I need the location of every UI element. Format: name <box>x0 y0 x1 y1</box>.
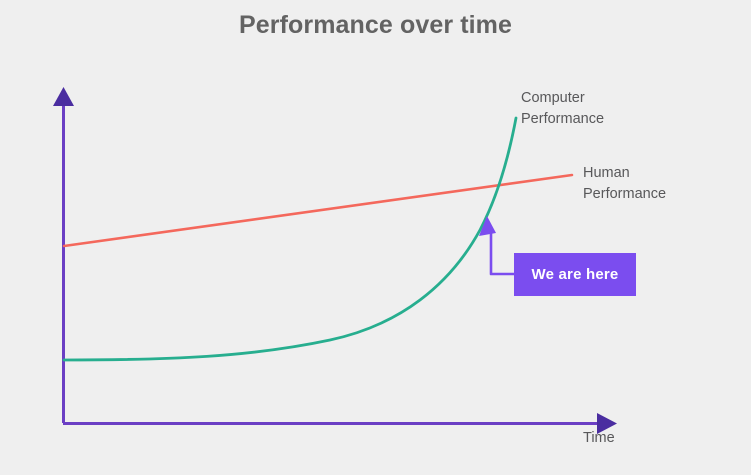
callout-label: We are here <box>532 266 619 283</box>
chart-canvas: Performance over time Computer Performan… <box>0 0 751 475</box>
series-line-human-performance <box>64 175 572 246</box>
callout-we-are-here: We are here <box>514 253 636 296</box>
y-axis-arrowhead-icon <box>53 87 74 106</box>
x-axis-label: Time <box>583 430 615 446</box>
series-line-computer-performance <box>64 118 516 360</box>
series-label-human-performance: Human Performance <box>583 163 666 205</box>
chart-plot-area <box>0 0 751 475</box>
callout-connector-line <box>491 232 514 274</box>
series-label-computer-performance: Computer Performance <box>521 88 604 130</box>
